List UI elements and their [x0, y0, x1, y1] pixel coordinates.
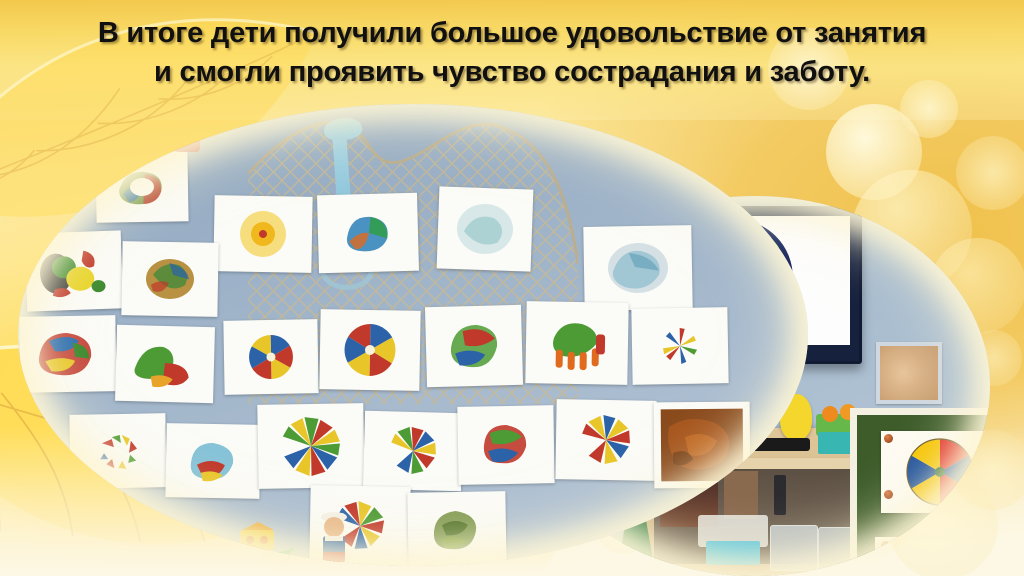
painted-ball-art — [240, 330, 303, 383]
painted-ball-art — [35, 240, 113, 303]
child-drawing — [654, 402, 751, 489]
child-drawing — [223, 319, 318, 395]
worksheet-circles-icon — [875, 537, 979, 576]
child-drawing — [319, 309, 420, 391]
child-drawing — [95, 151, 188, 223]
classroom-photo-drawings-wall — [18, 104, 808, 566]
magnet-icon — [987, 438, 990, 447]
painted-ball-art — [474, 416, 539, 473]
painted-ball-art — [128, 334, 201, 394]
child-drawing — [583, 225, 692, 311]
child-drawing — [69, 413, 166, 489]
toy-boat — [222, 522, 298, 560]
child-drawing — [165, 423, 260, 499]
painted-texture-art — [659, 407, 746, 484]
child-drawing — [363, 411, 463, 492]
toy-sailor-figure — [312, 508, 356, 566]
child-drawing — [257, 403, 364, 489]
red-object-on-wall — [174, 118, 200, 152]
toy-orange — [822, 406, 838, 422]
painted-ball-art — [272, 412, 349, 479]
painted-ball-art — [537, 311, 616, 374]
child-drawing — [457, 405, 554, 485]
child-drawing — [525, 301, 628, 385]
child-drawing — [121, 241, 218, 317]
child-drawing — [631, 307, 728, 385]
child-drawing — [407, 491, 506, 566]
child-drawing — [425, 305, 523, 387]
magnet-icon — [881, 541, 890, 550]
pinned-beach-ball-drawing — [881, 431, 990, 513]
painted-ball-art — [649, 319, 712, 372]
magnet-icon — [884, 490, 893, 499]
painted-texture-art — [424, 502, 491, 559]
painted-ball-art — [440, 316, 507, 376]
painted-ball-art — [181, 434, 246, 487]
painted-ball-art — [139, 252, 202, 305]
painted-ball-art — [28, 322, 107, 385]
painted-ball-art — [571, 410, 640, 469]
painted-ball-art — [336, 206, 399, 260]
child-drawing — [555, 399, 656, 481]
child-drawing — [115, 325, 215, 404]
painted-ball-art — [336, 320, 403, 379]
painted-ball-art — [228, 205, 299, 262]
child-drawing — [213, 195, 312, 273]
painted-ball-art — [449, 197, 521, 261]
painted-ball-art — [84, 423, 153, 478]
wall-photo-small — [876, 342, 942, 404]
slide-title: В итоге дети получили большое удовольств… — [0, 14, 1024, 91]
painted-ball-art — [111, 161, 174, 212]
child-drawing — [19, 315, 116, 393]
child-drawing — [317, 193, 419, 274]
beach-ball-drawing-icon — [881, 431, 990, 513]
pinned-worksheet — [875, 537, 979, 576]
child-drawing — [25, 230, 124, 311]
child-drawing — [437, 186, 534, 271]
magnet-icon — [985, 501, 990, 510]
green-bulletin-board — [850, 408, 990, 576]
magnet-icon — [884, 434, 893, 443]
painted-ball-art — [379, 421, 446, 481]
slide-root: В итоге дети получили большое удовольств… — [0, 0, 1024, 576]
painted-ball-art — [598, 236, 677, 299]
